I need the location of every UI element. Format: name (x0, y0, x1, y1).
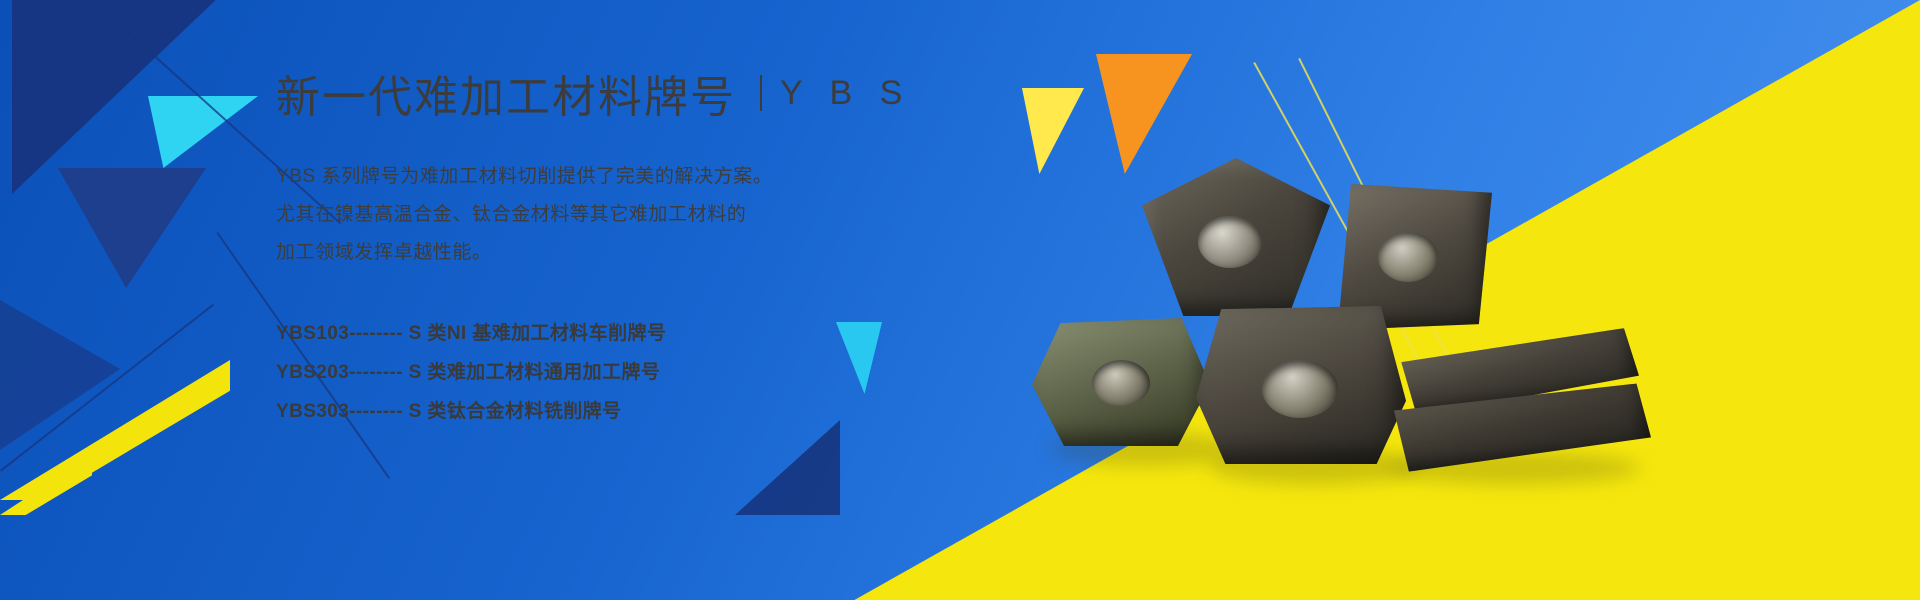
grade-item-ybs203: YBS203-------- S 类难加工材料通用加工牌号 (276, 353, 1036, 392)
headline: 新一代难加工材料牌号 Y B S (276, 62, 1036, 124)
headline-series-label: Y B S (780, 74, 911, 113)
insert-square-milling (1196, 306, 1406, 464)
banner-description: YBS 系列牌号为难加工材料切削提供了完美的解决方案。 尤其在镍基高温合金、钛合… (276, 158, 1036, 272)
insert-round-green (1032, 318, 1210, 446)
product-insert-group (990, 140, 1670, 480)
insert-center-hole (1378, 232, 1438, 282)
banner-text-block: 新一代难加工材料牌号 Y B S YBS 系列牌号为难加工材料切削提供了完美的解… (276, 62, 1036, 431)
grade-item-ybs103: YBS103-------- S 类NI 基难加工材料车削牌号 (276, 314, 1036, 353)
product-banner: 新一代难加工材料牌号 Y B S YBS 系列牌号为难加工材料切削提供了完美的解… (0, 0, 1920, 600)
description-line-1: YBS 系列牌号为难加工材料切削提供了完美的解决方案。 (276, 158, 1036, 196)
insert-center-hole (1198, 216, 1262, 268)
insert-trigon-wnmg (1142, 158, 1330, 316)
grade-list: YBS103-------- S 类NI 基难加工材料车削牌号 YBS203--… (276, 314, 1036, 431)
headline-main-title: 新一代难加工材料牌号 (276, 61, 736, 125)
grade-item-ybs303: YBS303-------- S 类钛合金材料铣削牌号 (276, 392, 1036, 431)
description-line-2: 尤其在镍基高温合金、钛合金材料等其它难加工材料的 (276, 196, 1036, 234)
headline-separator-bar (760, 75, 762, 111)
insert-center-hole (1262, 360, 1338, 418)
insert-center-hole (1092, 360, 1150, 406)
description-line-3: 加工领域发挥卓越性能。 (276, 234, 1036, 272)
